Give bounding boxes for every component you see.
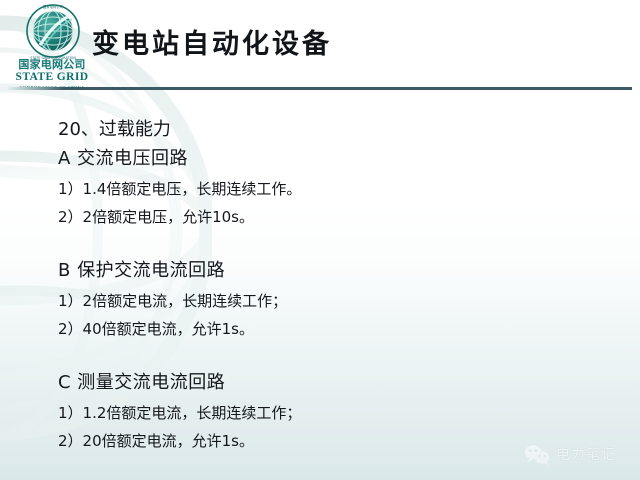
section-b-item-2: 2）40倍额定电流，允许1s。: [58, 316, 640, 342]
wechat-icon: [524, 444, 550, 465]
presentation-slide: 国家电网公司 STATE GRID CORPORATION 国家电网公司 STA…: [0, 0, 640, 480]
slide-body: 20、过载能力 A 交流电压回路 1）1.4倍额定电压，长期连续工作。 2）2倍…: [0, 92, 640, 480]
section-a-item-1: 1）1.4倍额定电压，长期连续工作。: [58, 176, 640, 202]
section-b-item-1: 1）2倍额定电流，长期连续工作；: [58, 288, 640, 314]
wechat-watermark: 电力笔记: [524, 441, 616, 467]
logo-name-en: STATE GRID: [6, 71, 98, 84]
section-label-c: C 测量交流电流回路: [58, 370, 640, 396]
section-a-item-2: 2）2倍额定电压，允许10s。: [58, 204, 640, 230]
logo-name-cn: 国家电网公司: [6, 59, 98, 71]
slide-title: 变电站自动化设备: [92, 22, 332, 61]
content-heading: 20、过载能力: [58, 117, 640, 143]
header-divider: [8, 87, 632, 90]
section-label-a: A 交流电压回路: [58, 146, 640, 172]
state-grid-globe-emblem: 国家电网公司 STATE GRID CORPORATION: [22, 3, 84, 61]
section-c-item-1: 1）1.2倍额定电流，长期连续工作；: [58, 400, 640, 426]
slide-header: 国家电网公司 STATE GRID CORPORATION 国家电网公司 STA…: [0, 0, 640, 92]
svg-text:国家电网公司: 国家电网公司: [43, 4, 63, 9]
state-grid-logo: 国家电网公司 STATE GRID CORPORATION 国家电网公司 STA…: [6, 3, 98, 91]
section-label-b: B 保护交流电流回路: [58, 258, 640, 284]
header-divider-fade: [8, 87, 64, 90]
wechat-watermark-text: 电力笔记: [556, 444, 616, 464]
